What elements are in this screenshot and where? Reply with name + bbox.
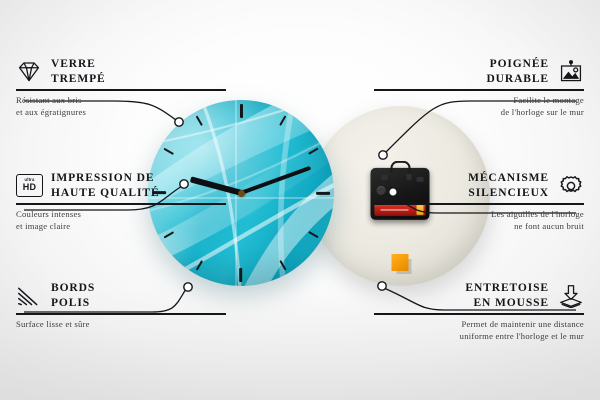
picture-frame-hanger-icon (558, 60, 584, 84)
callout-sub-line1: Les aiguilles de l'horloge (374, 209, 584, 221)
callout-title-line2: SILENCIEUX (468, 186, 549, 201)
callout-entretoise-en-mousse[interactable]: ENTRETOISE EN MOUSSE Permet de maintenir… (374, 281, 584, 342)
diamond-icon (16, 60, 42, 84)
callout-title-line2: TREMPÉ (51, 72, 106, 87)
divider (16, 313, 226, 315)
callout-sub-line2: de l'horloge sur le mur (374, 107, 584, 119)
callout-title-line1: IMPRESSION DE (51, 171, 160, 186)
ultra-hd-badge-icon: ultra HD (16, 174, 42, 198)
callout-title-line1: POIGNÉE (486, 57, 549, 72)
callout-sub-line2: et aux égratignures (16, 107, 226, 119)
callout-title-line2: HAUTE QUALITÉ (51, 186, 160, 201)
callout-impression-haute-qualite[interactable]: ultra HD IMPRESSION DE HAUTE QUALITÉ Cou… (16, 171, 226, 232)
callout-sub-line2: et image claire (16, 221, 226, 233)
callout-sub-line2: uniforme entre l'horloge et le mur (374, 331, 584, 343)
callout-sub-line2: ne font aucun bruit (374, 221, 584, 233)
callout-title-line2: DURABLE (486, 72, 549, 87)
callout-title-line1: BORDS (51, 281, 95, 296)
callout-title-line2: POLIS (51, 296, 95, 311)
divider (374, 313, 584, 315)
foam-spacer-press-icon (558, 284, 584, 308)
callout-title-line1: MÉCANISME (468, 171, 549, 186)
callout-title-line1: VERRE (51, 57, 106, 72)
callout-sub-line1: Facilite le montage (374, 95, 584, 107)
callout-title-line2: EN MOUSSE (465, 296, 549, 311)
callout-sub-line1: Permet de maintenir une distance (374, 319, 584, 331)
callout-poignee-durable[interactable]: POIGNÉE DURABLE Facilite le montage de l… (374, 57, 584, 118)
polished-edge-icon (16, 284, 42, 308)
product-infographic: VERRE TREMPÉ Résistant aux bris et aux é… (0, 0, 600, 400)
divider (374, 203, 584, 205)
gear-icon (558, 174, 584, 198)
hd-label: HD (23, 183, 36, 192)
callout-title-line1: ENTRETOISE (465, 281, 549, 296)
divider (16, 89, 226, 91)
callout-sub-line1: Surface lisse et sûre (16, 319, 226, 331)
callout-sub-line1: Résistant aux bris (16, 95, 226, 107)
foam-spacer (392, 254, 409, 271)
callout-mecanisme-silencieux[interactable]: MÉCANISME SILENCIEUX Les aiguilles de l'… (374, 171, 584, 232)
callout-sub-line1: Couleurs intenses (16, 209, 226, 221)
divider (374, 89, 584, 91)
hands-center-cap (238, 190, 245, 197)
callout-bords-polis[interactable]: BORDS POLIS Surface lisse et sûre (16, 281, 226, 331)
callout-verre-trempe[interactable]: VERRE TREMPÉ Résistant aux bris et aux é… (16, 57, 226, 118)
divider (16, 203, 226, 205)
